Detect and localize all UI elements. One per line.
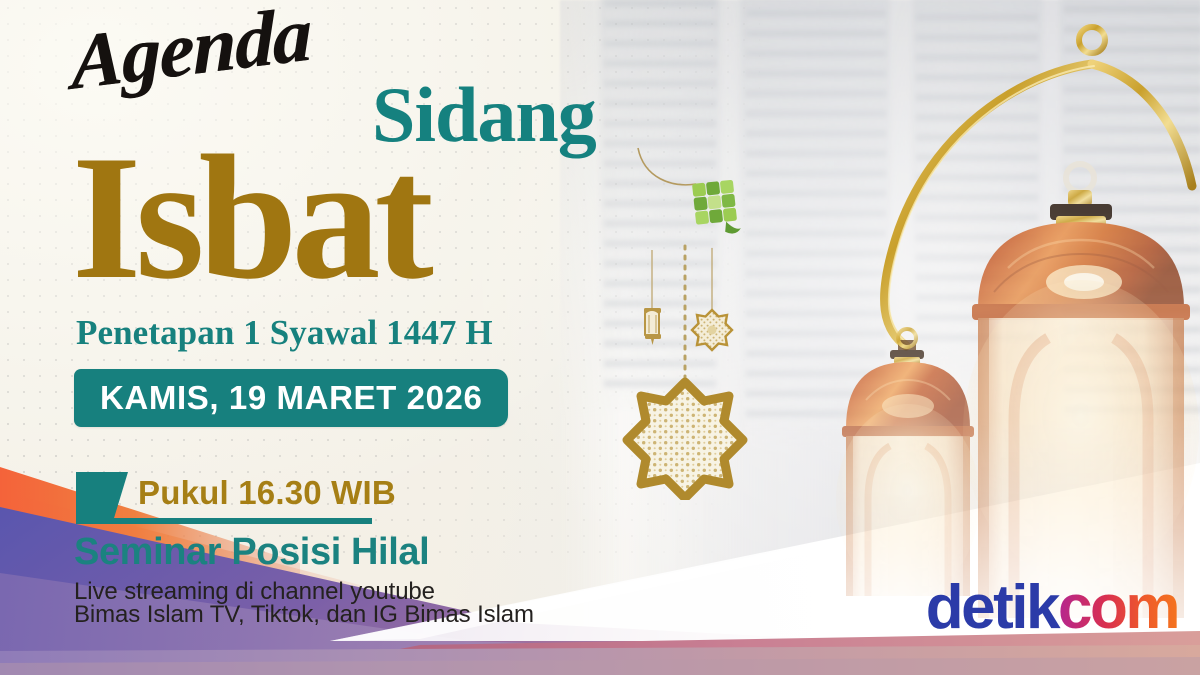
time-label: Pukul 16.30 WIB [138,474,396,512]
small-hanging-lantern-ornament [644,250,661,345]
large-eight-point-star-ornament [627,382,743,498]
title-secondary: Sidang [372,76,596,154]
copper-lantern-left [836,329,980,596]
date-banner: KAMIS, 19 MARET 2026 [74,369,508,427]
small-eight-point-star-ornament [692,248,732,350]
date-banner-text: KAMIS, 19 MARET 2026 [100,381,482,414]
logo-com-text: com [1058,573,1178,642]
copper-lantern-right [963,164,1199,618]
poster-canvas: Agenda Sidang Isbat Penetapan 1 Syawal 1… [0,0,1200,675]
detikcom-logo[interactable]: detikcom [926,577,1178,639]
teal-underline-rule [76,518,372,524]
streaming-line-2: Bimas Islam TV, Tiktok, dan IG Bimas Isl… [74,601,534,629]
event-name: Seminar Posisi Hilal [74,531,429,574]
logo-detik-text: detik [926,573,1058,642]
subtitle: Penetapan 1 Syawal 1447 H [76,313,493,353]
islamic-ornament-group [600,140,790,500]
ketupat-ornament [638,148,741,237]
